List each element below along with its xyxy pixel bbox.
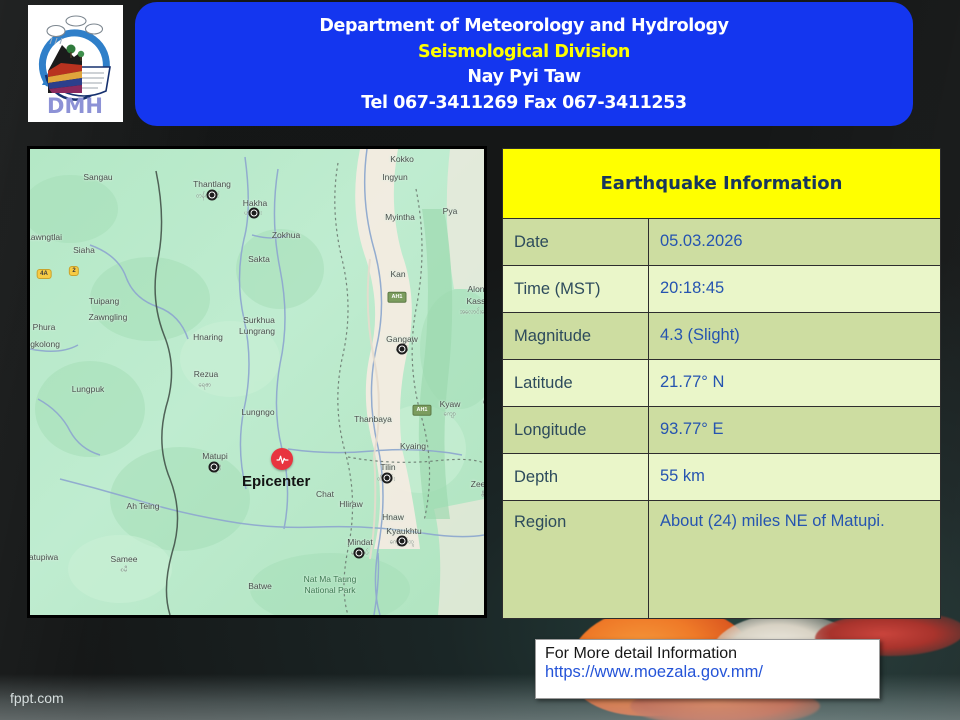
more-info-caption: For More detail Information bbox=[545, 645, 870, 663]
table-row: Magnitude 4.3 (Slight) bbox=[503, 313, 940, 360]
map-highway-shield: AH1 bbox=[412, 405, 431, 416]
row-value-magnitude: 4.3 (Slight) bbox=[649, 313, 940, 359]
header-line-2: Nay Pyi Taw bbox=[467, 69, 580, 87]
row-label-region: Region bbox=[503, 501, 649, 618]
table-row: Longitude 93.77° E bbox=[503, 407, 940, 454]
row-label-time: Time (MST) bbox=[503, 266, 649, 312]
seismograph-icon bbox=[276, 453, 289, 466]
row-label-magnitude: Magnitude bbox=[503, 313, 649, 359]
map-town-marker[interactable] bbox=[354, 548, 365, 559]
slide-canvas: DMH Department of Meteorology and Hydrol… bbox=[0, 0, 960, 720]
header-line-3: Tel 067-3411269 Fax 067-3411253 bbox=[361, 95, 686, 113]
table-row: Time (MST) 20:18:45 bbox=[503, 266, 940, 313]
header-line-0: Department of Meteorology and Hydrology bbox=[319, 18, 728, 36]
row-value-date: 05.03.2026 bbox=[649, 219, 940, 265]
epicenter-marker[interactable] bbox=[271, 448, 293, 470]
epicenter-label: Epicenter bbox=[242, 473, 310, 490]
table-row: Date 05.03.2026 bbox=[503, 219, 940, 266]
map-town-marker[interactable] bbox=[397, 536, 408, 547]
map-highway-shield: AH1 bbox=[387, 292, 406, 303]
row-value-depth: 55 km bbox=[649, 454, 940, 500]
row-value-longitude: 93.77° E bbox=[649, 407, 940, 453]
map-town-marker[interactable] bbox=[382, 473, 393, 484]
earthquake-information-table: Earthquake Information Date 05.03.2026 T… bbox=[502, 148, 941, 619]
map-town-marker[interactable] bbox=[249, 208, 260, 219]
map-town-marker[interactable] bbox=[397, 344, 408, 355]
dmh-logo: DMH bbox=[28, 5, 123, 122]
row-value-time: 20:18:45 bbox=[649, 266, 940, 312]
map-town-marker[interactable] bbox=[209, 462, 220, 473]
map-canvas bbox=[30, 149, 484, 615]
row-value-region: About (24) miles NE of Matupi. bbox=[649, 501, 940, 618]
row-label-date: Date bbox=[503, 219, 649, 265]
table-title: Earthquake Information bbox=[503, 149, 940, 219]
map-town-marker[interactable] bbox=[207, 190, 218, 201]
more-information-box: For More detail Information https://www.… bbox=[535, 639, 880, 699]
row-label-depth: Depth bbox=[503, 454, 649, 500]
map-highway-shield: 2 bbox=[69, 266, 79, 276]
row-value-latitude: 21.77° N bbox=[649, 360, 940, 406]
map-terrain-svg bbox=[30, 149, 484, 615]
table-row: Region About (24) miles NE of Matupi. bbox=[503, 501, 940, 618]
row-label-latitude: Latitude bbox=[503, 360, 649, 406]
epicenter-map[interactable]: SangauThantlangတန်တလင်HakhaဟားခားKokkoIn… bbox=[27, 146, 487, 618]
water-cycle-icon: DMH bbox=[28, 5, 123, 122]
moezala-link[interactable]: https://www.moezala.gov.mm/ bbox=[545, 663, 870, 681]
table-row: Depth 55 km bbox=[503, 454, 940, 501]
table-row: Latitude 21.77° N bbox=[503, 360, 940, 407]
header-line-1: Seismological Division bbox=[418, 44, 630, 62]
logo-wordmark: DMH bbox=[47, 94, 103, 118]
map-place-label: Pauk bbox=[485, 526, 487, 536]
map-highway-shield: 4A bbox=[37, 269, 52, 279]
row-label-longitude: Longitude bbox=[503, 407, 649, 453]
fppt-watermark: fppt.com bbox=[10, 690, 64, 706]
header-banner: Department of Meteorology and Hydrology … bbox=[135, 2, 913, 126]
